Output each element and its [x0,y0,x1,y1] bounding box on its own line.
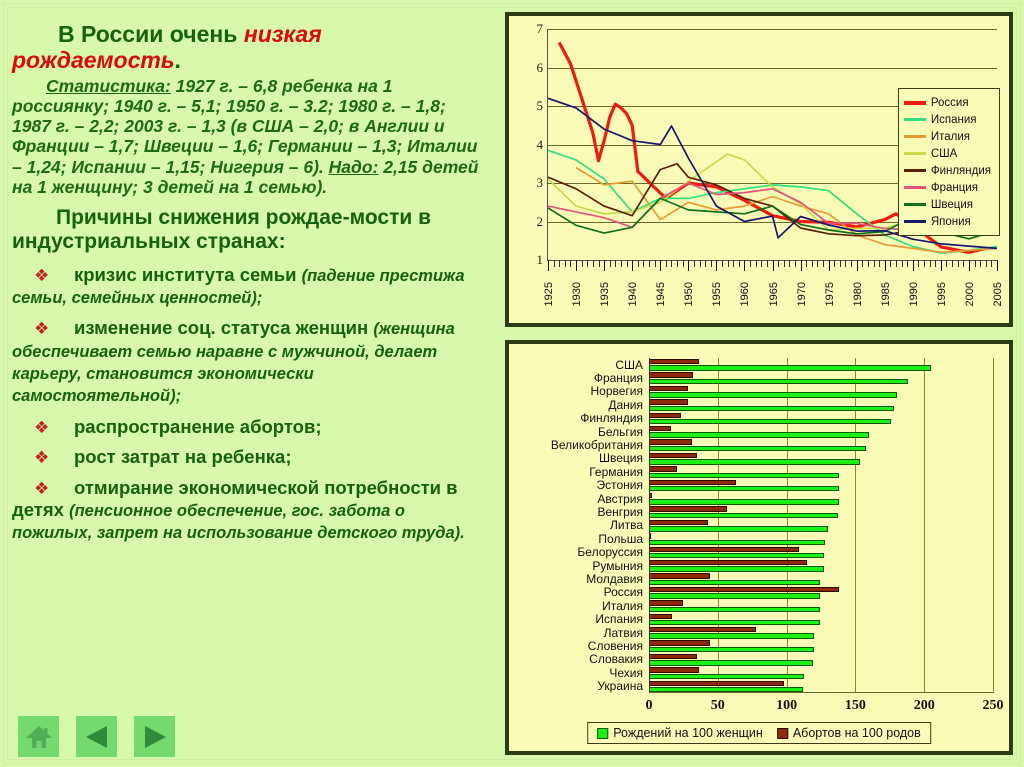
x-axis-tick [761,260,762,267]
x-axis-tick [812,260,813,267]
bar-category-label: Польша [598,532,643,546]
x-axis-tick [952,260,953,267]
y-axis-line [649,358,650,693]
y-axis-tick-label: 5 [537,98,544,114]
x-axis-tick [969,260,970,271]
legend-swatch-icon [904,203,926,206]
x-axis-tick [823,260,824,267]
bar-chart-row: Литва [649,519,993,532]
bar-category-label: Эстония [597,478,644,492]
bar-abortions [649,587,839,592]
legend-entry-Япония: Япония [904,213,991,230]
legend-label: Россия [931,97,969,109]
y-axis-tick-label: 7 [537,21,544,37]
x-axis-tick-label: 100 [776,698,797,714]
x-gridline [993,358,994,693]
y-axis-tick-label: 3 [537,175,544,191]
bar-chart-row: Германия [649,465,993,478]
x-axis-tick [930,260,931,267]
bar-category-label: Франция [594,371,643,385]
x-axis-tick [554,260,555,267]
bar-births [649,392,897,397]
bar-category-label: Белоруссия [577,545,643,559]
x-axis-tick-label: 1950 [683,282,695,306]
x-axis-tick [728,260,729,267]
bar-births [649,513,838,518]
bar-category-label: Финляндия [580,411,643,425]
bar-births [649,406,894,411]
bar-births [649,647,814,652]
x-axis-tick [924,260,925,267]
x-axis-tick [946,260,947,267]
x-axis-tick [570,260,571,267]
bar-chart-row: Чехия [649,666,993,679]
x-axis-tick-label: 250 [983,698,1004,714]
bar-category-label: Латвия [604,626,643,640]
x-axis-tick-label: 1980 [852,282,864,306]
x-axis-tick [857,260,858,271]
bar-abortions [649,520,708,525]
bar-chart-row: Венгрия [649,505,993,518]
bar-abortions [649,667,699,672]
x-axis-tick [885,260,886,271]
next-icon [141,724,169,750]
legend-swatch-icon [904,220,926,223]
x-axis-tick-label: 1965 [768,282,780,306]
prev-icon [83,724,111,750]
x-axis-tick-label: 0 [646,698,653,714]
nado-label: Надо: [329,157,379,177]
x-axis-tick [789,260,790,267]
x-axis-tick [773,260,774,271]
bar-chart-row: Финляндия [649,412,993,425]
bar-births [649,593,820,598]
x-axis-tick-label: 1945 [655,282,667,306]
bar-abortions [649,547,799,552]
bar-abortions [649,627,756,632]
bullet-diamond-icon: ❖ [12,448,74,468]
home-icon [25,724,53,750]
legend-swatch-icon [904,169,926,172]
bar-births [649,459,860,464]
legend-entry-Россия: Россия [904,94,991,111]
x-axis-tick-label: 2000 [964,282,976,306]
x-axis-tick-label: 1930 [571,282,583,306]
bar-chart-row: Молдавия [649,572,993,585]
x-axis-tick [582,260,583,267]
x-axis-tick [610,260,611,267]
x-axis-tick [795,260,796,267]
page-title: В России очень низкая рождаемость. [12,22,482,74]
x-axis-tick [587,260,588,267]
bar-chart-row: Испания [649,613,993,626]
x-axis-tick [615,260,616,267]
bar-chart-row: Латвия [649,626,993,639]
statistics-label: Статистика: [46,76,171,96]
x-axis-tick [739,260,740,267]
list-item: ❖распространение абортов; [12,416,482,438]
x-axis-tick [896,260,897,267]
bar-abortions [649,426,671,431]
legend-entry-Финляндия: Финляндия [904,162,991,179]
legend-label-abortions: Абортов на 100 родов [793,726,921,740]
x-axis-tick [700,260,701,267]
bullet-diamond-icon: ❖ [12,418,74,438]
x-axis-line [649,692,993,693]
x-axis-tick [694,260,695,267]
x-axis-tick [801,260,802,271]
bar-chart-row: Бельгия [649,425,993,438]
legend-entry-abortions: Абортов на 100 родов [777,726,921,740]
legend-entry-Франция: Франция [904,179,991,196]
bar-abortions [649,480,736,485]
bullet-diamond-icon: ❖ [12,319,74,339]
x-axis-tick [599,260,600,267]
title-part-red-1: низкая [244,21,322,47]
bar-chart-row: Эстония [649,479,993,492]
bar-abortions [649,654,697,659]
bar-births [649,540,825,545]
x-axis-tick [980,260,981,267]
bar-category-label: Бельгия [598,425,643,439]
bar-category-label: США [615,358,643,372]
x-axis-tick [784,260,785,267]
x-axis-tick [688,260,689,271]
bar-births [649,446,866,451]
x-axis-tick [851,260,852,267]
x-axis-tick [829,260,830,271]
bar-category-label: Италия [602,599,643,613]
legend-label: Швеция [931,199,973,211]
bar-category-label: Венгрия [597,505,643,519]
bar-abortions [649,506,727,511]
x-axis-tick [621,260,622,267]
x-axis-tick [559,260,560,267]
home-button[interactable] [18,716,59,757]
y-axis-tick-label: 4 [537,137,544,153]
x-axis-tick [643,260,644,267]
x-axis-tick-label: 1995 [936,282,948,306]
list-item-bold: распространение абортов; [74,416,322,437]
bar-chart-plot-area: 050100150200250СШАФранцияНорвегияДанияФи… [649,358,993,693]
y-axis-tick-label: 2 [537,214,544,230]
x-axis-tick-label: 1990 [908,282,920,306]
legend-label: Италия [931,131,970,143]
bar-abortions [649,466,677,471]
bar-births [649,379,908,384]
legend-entry-Испания: Испания [904,111,991,128]
legend-entry-США: США [904,145,991,162]
bar-category-label: Дания [608,398,643,412]
x-axis-tick [975,260,976,267]
x-axis-tick [750,260,751,267]
x-axis-tick [716,260,717,271]
x-axis-tick-label: 1960 [739,282,751,306]
x-axis-tick [890,260,891,267]
x-axis-tick [991,260,992,267]
bar-abortions [649,453,697,458]
legend-label: США [931,148,958,160]
x-axis-tick-label: 1935 [599,282,611,306]
legend-swatch-icon [904,101,926,105]
bar-births [649,633,814,638]
bar-births [649,566,824,571]
x-axis-tick-label: 1955 [711,282,723,306]
legend-swatch-births-icon [597,728,608,739]
bar-chart-row: Норвегия [649,385,993,398]
bar-category-label: Россия [604,585,643,599]
x-axis-tick-label: 1975 [824,282,836,306]
x-axis-tick [638,260,639,267]
bar-category-label: Германия [589,465,643,479]
title-part-red-2: рождаемость [12,47,175,73]
bar-category-label: Великобритания [551,438,643,452]
bar-chart-legend: Рождений на 100 женщин Абортов на 100 ро… [587,722,931,744]
text-column: В России очень низкая рождаемость. Стати… [12,22,482,553]
list-item: ❖изменение соц. статуса женщин (женщина … [12,317,482,406]
legend-entry-Швеция: Швеция [904,196,991,213]
legend-label-births: Рождений на 100 женщин [613,726,763,740]
bar-births [649,365,931,370]
bar-abortions [649,359,699,364]
list-item-bold: изменение соц. статуса женщин [74,317,373,338]
legend-swatch-icon [904,186,926,189]
bar-births [649,674,804,679]
bar-category-label: Румыния [592,559,643,573]
bar-births [649,499,839,504]
x-axis-tick [660,260,661,271]
x-axis-tick [671,260,672,267]
slide-root: В России очень низкая рождаемость. Стати… [0,0,1024,767]
x-axis-tick-label: 1970 [796,282,808,306]
bar-chart-row: Словакия [649,653,993,666]
title-part-tail: . [175,47,181,73]
list-item-bold: кризис института семьи [74,264,302,285]
bar-abortions [649,399,688,404]
x-axis-tick [756,260,757,267]
bar-abortions [649,600,683,605]
x-axis-tick [683,260,684,267]
bar-abortions [649,439,692,444]
x-axis-tick [705,260,706,267]
bullet-diamond-icon: ❖ [12,266,74,286]
x-axis-tick [935,260,936,267]
x-axis-tick-label: 50 [711,698,725,714]
bar-chart-row: Украина [649,680,993,693]
x-axis-tick [879,260,880,267]
x-axis-tick [649,260,650,267]
x-axis-tick-label: 1925 [543,282,555,306]
list-item: ❖рост затрат на ребенка; [12,446,482,468]
x-axis-tick [576,260,577,271]
title-part-black: В России очень [58,21,244,47]
bar-abortions [649,573,710,578]
bar-births [649,580,820,585]
x-axis-tick [722,260,723,267]
bar-category-label: Украина [597,679,643,693]
x-axis-tick-label: 1985 [880,282,892,306]
bar-chart-row: Белоруссия [649,546,993,559]
bar-births [649,607,820,612]
bar-category-label: Словакия [589,652,643,666]
bar-abortions [649,413,681,418]
x-axis-tick [744,260,745,271]
x-axis-tick [907,260,908,267]
previous-button[interactable] [76,716,117,757]
legend-entry-births: Рождений на 100 женщин [597,726,763,740]
bar-chart-row: Швеция [649,452,993,465]
x-axis-tick [834,260,835,267]
x-axis-tick [632,260,633,271]
x-axis-tick-label: 200 [914,698,935,714]
x-axis-tick [767,260,768,267]
bar-category-label: Испания [595,612,643,626]
bar-abortions [649,640,710,645]
x-axis-tick [913,260,914,271]
x-axis-tick [941,260,942,271]
bar-category-label: Словения [588,639,643,653]
bar-category-label: Молдавия [586,572,643,586]
bar-category-label: Литва [610,518,643,532]
x-axis-tick [918,260,919,267]
bar-births [649,473,839,478]
legend-swatch-icon [904,152,926,155]
x-axis-tick [666,260,667,267]
bar-abortions [649,386,688,391]
bar-chart-row: Словения [649,639,993,652]
list-item-bold: рост затрат на ребенка; [74,446,291,467]
legend-label: Финляндия [931,165,991,177]
legend-label: Испания [931,114,977,126]
bar-births [649,486,839,491]
y-axis-tick-label: 6 [537,60,544,76]
x-axis-tick [840,260,841,267]
bar-chart-row: Дания [649,398,993,411]
x-axis-tick [778,260,779,267]
bar-chart-row: Россия [649,586,993,599]
bar-category-label: Швеция [599,451,643,465]
bar-chart-row: Австрия [649,492,993,505]
x-axis-tick [958,260,959,267]
bar-chart-row: Польша [649,532,993,545]
x-axis-tick-label: 2005 [992,282,1004,306]
bar-abortions [649,372,693,377]
x-axis-tick [963,260,964,267]
births-abortions-bar-chart-panel: 050100150200250СШАФранцияНорвегияДанияФи… [505,340,1013,755]
section-subheading: Причины снижения рождае-мости в индустри… [12,206,482,253]
bar-births [649,432,869,437]
fertility-line-chart-panel: 1234567192519301935194019451950195519601… [505,12,1013,327]
legend-entry-Италия: Италия [904,128,991,145]
bar-chart-row: Румыния [649,559,993,572]
line-chart-legend: РоссияИспанияИталияСШАФинляндияФранцияШв… [898,88,1000,236]
x-axis-tick [604,260,605,271]
bar-chart-row: Италия [649,599,993,612]
x-axis-tick [806,260,807,267]
x-axis-tick [902,260,903,267]
next-button[interactable] [134,716,175,757]
x-axis-tick [711,260,712,267]
list-item: ❖кризис института семьи (падение престиж… [12,264,482,309]
x-axis-tick [845,260,846,267]
legend-label: Франция [931,182,978,194]
bar-abortions [649,681,784,686]
x-axis-tick [627,260,628,267]
legend-swatch-icon [904,135,926,138]
x-axis-tick [565,260,566,267]
bar-category-label: Австрия [597,492,643,506]
bar-category-label: Норвегия [590,384,643,398]
bar-births [649,419,891,424]
x-axis-tick [868,260,869,267]
x-axis-tick [548,260,549,271]
x-axis-tick-label: 150 [845,698,866,714]
x-axis-tick [817,260,818,267]
x-axis-tick [593,260,594,267]
legend-swatch-abortions-icon [777,728,788,739]
bar-births [649,660,813,665]
x-axis-tick-label: 1940 [627,282,639,306]
bullet-diamond-icon: ❖ [12,479,74,499]
x-axis-tick [655,260,656,267]
navigation-bar [18,716,175,757]
bar-births [649,553,824,558]
x-axis-tick [862,260,863,267]
legend-swatch-icon [904,118,926,121]
bar-abortions [649,560,807,565]
x-axis-tick [874,260,875,267]
x-axis-tick [986,260,987,267]
legend-label: Япония [931,216,971,228]
bar-chart-row: США [649,358,993,371]
list-item-note: (пенсионное обеспечение, гос. забота о п… [12,502,465,542]
bar-category-label: Чехия [609,666,643,680]
x-axis-tick [733,260,734,267]
bar-births [649,526,828,531]
statistics-paragraph: Статистика: 1927 г. – 6,8 ребенка на 1 р… [12,76,482,198]
bar-births [649,620,820,625]
bar-chart-row: Франция [649,371,993,384]
x-axis-tick [997,260,998,271]
bar-chart-row: Великобритания [649,438,993,451]
x-axis-tick [677,260,678,267]
bar-abortions [649,614,672,619]
list-item: ❖отмирание экономической потребности в д… [12,477,482,543]
y-axis-tick-label: 1 [537,252,544,268]
